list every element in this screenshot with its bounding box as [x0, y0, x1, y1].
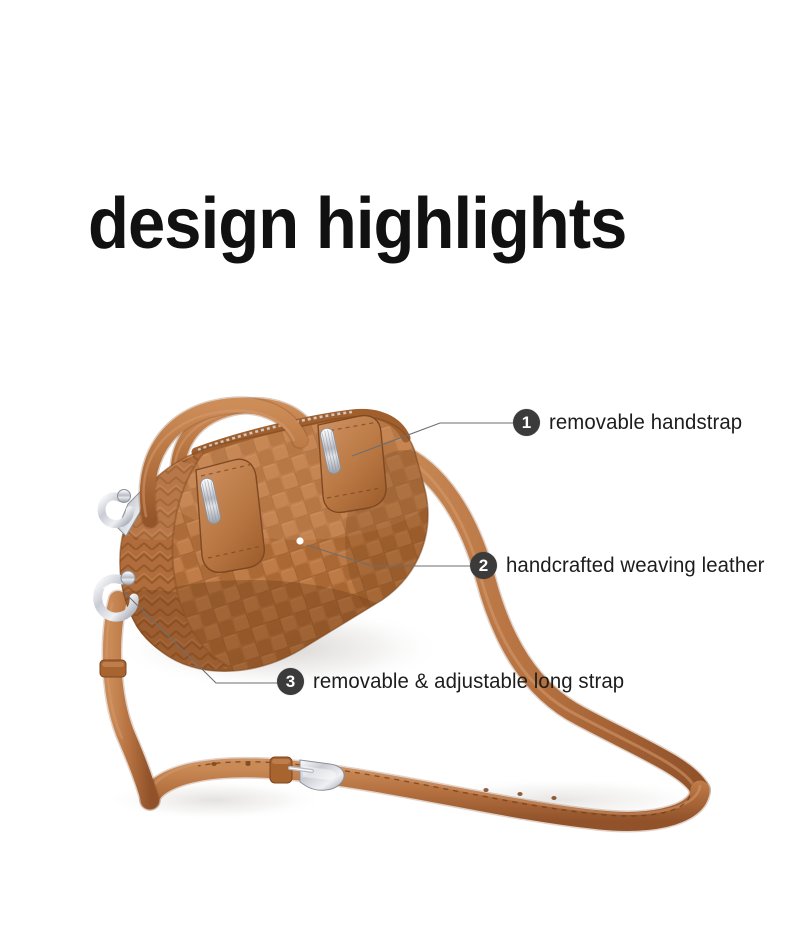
callout-badge-1: 1 [513, 409, 540, 436]
body-highlight-dot [296, 537, 303, 544]
callout-label-1: removable handstrap [549, 411, 742, 435]
callout-label-3: removable & adjustable long strap [313, 670, 624, 694]
handstrap-tab-right [318, 416, 386, 513]
product-photo [0, 0, 790, 934]
handstrap-tab-left [196, 459, 264, 572]
page-title: design highlights [88, 188, 626, 260]
callout-badge-3: 3 [277, 668, 304, 695]
strap-clasp-upper [102, 490, 131, 525]
callout-2[interactable]: 2 handcrafted weaving leather [470, 552, 773, 579]
product-infographic: design highlights 1 removable handstrap … [0, 0, 790, 934]
callout-1[interactable]: 1 removable handstrap [513, 409, 748, 436]
strap-keeper-loop [100, 660, 126, 677]
callout-badge-2: 2 [470, 552, 497, 579]
callout-label-2: handcrafted weaving leather [506, 554, 765, 578]
callout-3[interactable]: 3 removable & adjustable long strap [277, 668, 634, 695]
